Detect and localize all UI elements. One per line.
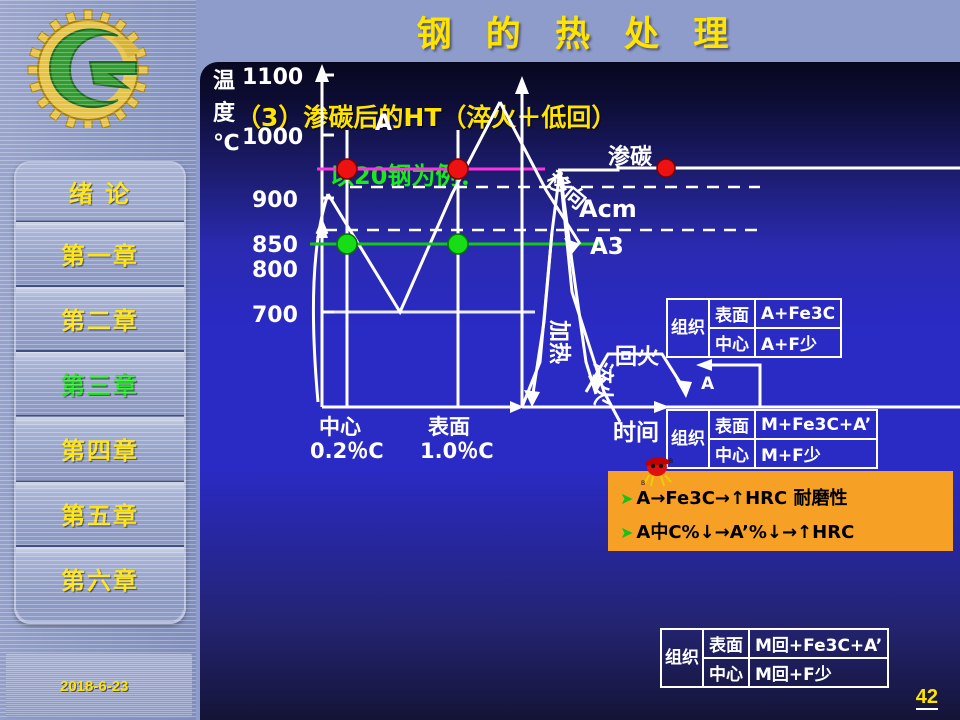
sidebar-item-6[interactable]: 第六章 [16,547,184,610]
sidebar-item-0[interactable]: 绪 论 [16,163,184,222]
table-row: 组织 表面 A+Fe3C [667,299,841,328]
ytick-700: 700 [252,303,298,328]
y-axis-label-1: 温 [213,69,235,94]
table-value: A+Fe3C [755,299,841,328]
sidebar-nav[interactable]: 绪 论 第一章 第二章 第三章 第四章 第五章 第六章 [14,161,186,624]
sidebar-item-label: 第五章 [61,496,139,531]
sidebar-item-label: 第一章 [61,236,139,271]
phase-boundary-v [328,102,500,312]
table-value: A+F少 [755,328,841,357]
callout-line-2: ➤A中C%↓→A’%↓→↑HRC [620,518,854,544]
logo [22,8,162,128]
ytick-850: 850 [252,233,298,258]
table-key: 表面 [709,410,755,439]
slide-root: 绪 论 第一章 第二章 第三章 第四章 第五章 第六章 2018-6-23 钢 … [0,0,960,720]
svg-text:B: B [641,480,645,487]
page-number-text: 42 [916,686,938,708]
sidebar: 绪 论 第一章 第二章 第三章 第四章 第五章 第六章 2018-6-23 [0,0,196,720]
page-title: 钢 的 热 处 理 [196,6,960,57]
marker-red-right [657,159,675,177]
logo-gear-icon [22,8,162,128]
ytick-800: 800 [252,258,298,283]
sidebar-item-label: 第二章 [61,301,139,336]
date-text: 2018-6-23 [60,678,128,695]
process-diagram: 温 度 ℃ 1100 1000 900 850 800 700 A 中心 0.2… [200,62,960,720]
quenched-structure-table: 组织 表面 M+Fe3C+A’ 中心 M+F少 [666,409,878,469]
table-value: M+F少 [755,439,877,468]
date-bar: 2018-6-23 [6,654,192,718]
label-quench-cool: 淬火 [589,362,615,406]
label-temper: 回火 [615,345,659,370]
region-label-A: A [375,111,392,136]
xtick-center-sub: 0.2％C [310,439,384,463]
marker-green-surface [448,234,468,254]
marker-red-center [337,159,357,179]
slide-content-panel: （3）渗碳后的HT（淬火＋低回） 以20钢为例： [200,62,960,720]
sidebar-item-label: 第三章 [61,366,139,401]
xtick-surface: 表面 [428,415,470,439]
callout-line-2-text: A中C%↓→A’%↓→↑HRC [636,522,854,543]
quench-heating [500,102,580,244]
table-value: M回+Fe3C+A’ [749,629,888,658]
rowhead-text: 组织 [671,429,705,449]
right-plot [500,76,960,422]
table-key: 中心 [709,328,755,357]
table-row: 组织 表面 M+Fe3C+A’ [667,410,877,439]
bullet-arrow-icon: ➤ [620,489,633,508]
sidebar-item-4[interactable]: 第四章 [16,417,184,482]
table-key: 表面 [709,299,755,328]
table-row: 组织 表面 M回+Fe3C+A’ [661,629,888,658]
x-axis-label-time: 时间 [613,420,659,446]
callout-line-1-text: A→Fe3C→↑HRC 耐磨性 [636,488,847,509]
table-value: M回+F少 [749,658,888,687]
rowhead-text: 组织 [671,318,705,338]
marker-green-center [337,234,357,254]
sidebar-item-label: 第四章 [61,431,139,466]
sidebar-item-3[interactable]: 第三章 [16,352,184,417]
rowhead-text: 组织 [665,648,699,668]
marker-red-surface [448,159,468,179]
xtick-surface-sub: 1.0％C [420,439,494,463]
svg-text:B: B [669,458,673,465]
sidebar-item-2[interactable]: 第二章 [16,287,184,352]
marker-a-label: A [701,374,714,394]
xtick-center: 中心 [319,415,361,439]
mascot-icon: B B [637,454,679,488]
table-key: 中心 [709,439,755,468]
y-axis-label-3: ℃ [213,131,240,156]
sidebar-item-label: 第六章 [61,561,139,596]
label-a3: A3 [590,234,624,260]
sidebar-item-5[interactable]: 第五章 [16,482,184,547]
sidebar-item-label: 绪 论 [69,174,131,209]
ytick-900: 900 [252,188,298,213]
tempered-structure-table: 组织 表面 M回+Fe3C+A’ 中心 M回+F少 [660,628,889,688]
label-heating: 加热 [546,319,572,364]
page-number: 42 [916,686,938,710]
table-rowhead: 组织 [661,629,703,687]
carburized-structure-table: 组织 表面 A+Fe3C 中心 A+F少 [666,298,842,358]
sidebar-item-1[interactable]: 第一章 [16,222,184,287]
table-value: M+Fe3C+A’ [755,410,877,439]
table-rowhead: 组织 [667,299,709,357]
ytick-1100: 1100 [242,65,303,90]
table-key: 中心 [703,658,749,687]
page-number-underline [916,708,938,710]
table-key: 表面 [703,629,749,658]
ytick-1000: 1000 [242,125,303,150]
label-carburize: 渗碳 [608,144,653,170]
y-axis-label-2: 度 [213,100,236,126]
bullet-arrow-icon: ➤ [620,523,633,542]
